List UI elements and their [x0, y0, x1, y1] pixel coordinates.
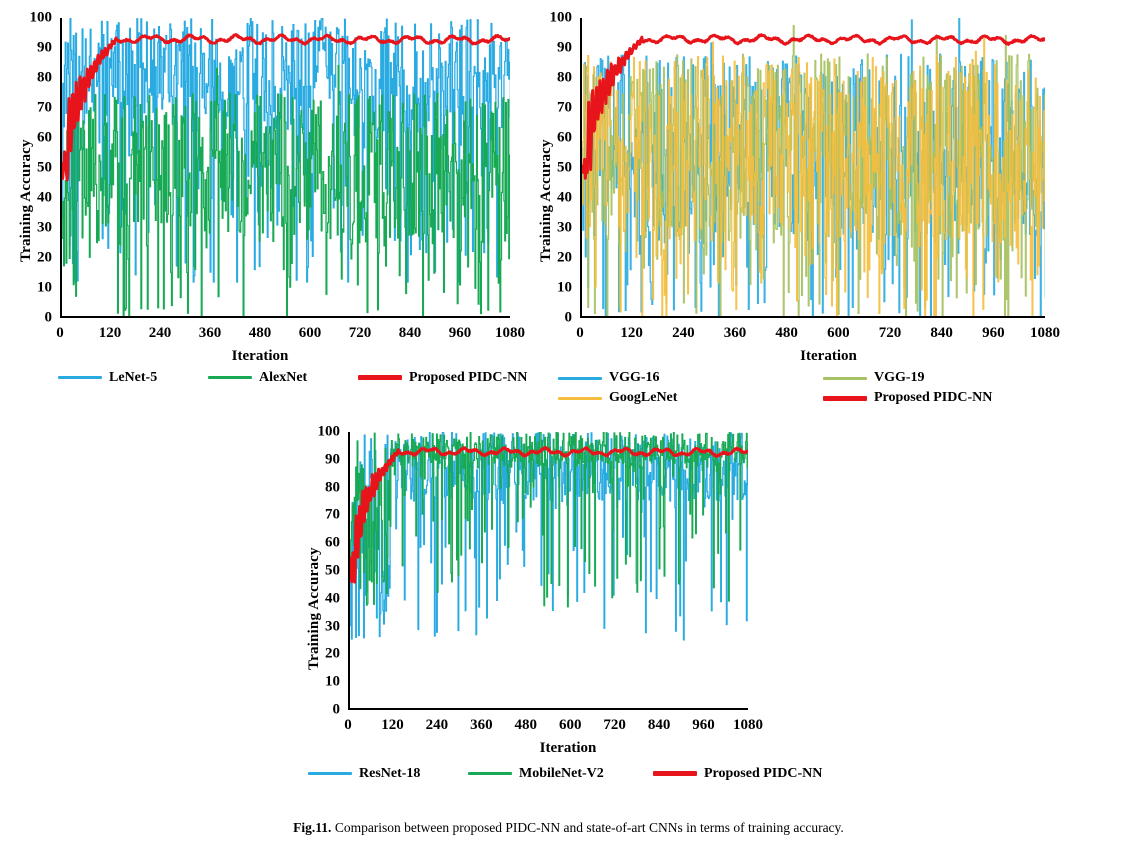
legend-item-lenet-5[interactable]: LeNet-5: [58, 370, 208, 386]
legend-label: Proposed PIDC-NN: [704, 766, 822, 782]
x-tick-label: 960: [449, 326, 472, 341]
x-tick-label: 960: [692, 718, 715, 733]
legend-item-googlenet[interactable]: GoogLeNet: [558, 390, 823, 406]
x-tick-label: 480: [249, 326, 272, 341]
legend-item-vgg-16[interactable]: VGG-16: [558, 370, 823, 386]
legend-item-proposed-pidc-nn[interactable]: Proposed PIDC-NN: [358, 370, 527, 386]
y-tick-label: 70: [288, 508, 340, 523]
plot-wrapper-2: Training Accuracy 0102030405060708090100…: [520, 0, 1137, 410]
legend-swatch-icon: [208, 376, 252, 379]
legend-swatch-icon: [58, 376, 102, 379]
legend-swatch-icon: [308, 772, 352, 775]
x-tick-label: 0: [576, 326, 584, 341]
legend-label: GoogLeNet: [609, 390, 677, 406]
x-tick-label: 720: [349, 326, 372, 341]
y-tick-label: 60: [0, 131, 52, 146]
x-tick-label: 480: [515, 718, 538, 733]
x-tick-label: 240: [426, 718, 449, 733]
x-tick-label: 960: [982, 326, 1005, 341]
legend-item-alexnet[interactable]: AlexNet: [208, 370, 358, 386]
legend-item-mobilenet-v2[interactable]: MobileNet-V2: [468, 766, 653, 782]
y-tick-label: 30: [520, 221, 572, 236]
plot-area-2: [580, 18, 1045, 318]
x-tick-label: 1080: [1030, 326, 1060, 341]
legend-label: VGG-16: [609, 370, 660, 386]
y-tick-label: 50: [520, 161, 572, 176]
y-tick-label: 20: [520, 251, 572, 266]
x-tick-label: 0: [344, 718, 352, 733]
legend-item-proposed-pidc-nn[interactable]: Proposed PIDC-NN: [823, 390, 992, 406]
y-tick-label: 80: [520, 71, 572, 86]
y-tick-label: 90: [0, 41, 52, 56]
y-tick-label: 30: [288, 619, 340, 634]
plot-area-3: [348, 432, 748, 710]
x-axis-label-1: Iteration: [0, 348, 520, 365]
legend-item-resnet-18[interactable]: ResNet-18: [308, 766, 468, 782]
figure-caption-text: Comparison between proposed PIDC-NN and …: [331, 820, 843, 835]
y-tick-label: 20: [288, 647, 340, 662]
y-tick-label: 40: [0, 191, 52, 206]
y-tick-label: 0: [0, 311, 52, 326]
legend-label: AlexNet: [259, 370, 307, 386]
y-tick-label: 50: [0, 161, 52, 176]
legend-swatch-icon: [558, 377, 602, 380]
y-tick-label: 90: [520, 41, 572, 56]
y-tick-label: 10: [520, 281, 572, 296]
x-tick-label: 840: [399, 326, 422, 341]
legend-label: VGG-19: [874, 370, 925, 386]
series-line: [350, 432, 748, 640]
y-tick-label: 100: [0, 11, 52, 26]
legend-item-proposed-pidc-nn[interactable]: Proposed PIDC-NN: [653, 766, 822, 782]
series-resnet-18: [350, 432, 748, 640]
legend-row: VGG-16VGG-19: [558, 368, 1098, 388]
x-axis-label-2: Iteration: [520, 348, 1137, 365]
figure-root: Training Accuracy 0102030405060708090100…: [0, 0, 1137, 855]
y-tick-label: 90: [288, 452, 340, 467]
legend-2: VGG-16VGG-19GoogLeNetProposed PIDC-NN: [558, 368, 1098, 408]
legend-swatch-icon: [823, 377, 867, 380]
chart-panel-2: Training Accuracy 0102030405060708090100…: [520, 0, 1137, 410]
y-tick-label: 30: [0, 221, 52, 236]
y-tick-label: 100: [520, 11, 572, 26]
x-tick-label: 360: [724, 326, 747, 341]
series-canvas: [62, 18, 510, 318]
legend-swatch-icon: [468, 772, 512, 775]
x-tick-label: 360: [470, 718, 493, 733]
legend-label: Proposed PIDC-NN: [874, 390, 992, 406]
legend-swatch-icon: [653, 771, 697, 776]
x-tick-label: 600: [559, 718, 582, 733]
y-tick-label: 40: [520, 191, 572, 206]
legend-swatch-icon: [823, 396, 867, 401]
y-tick-label: 20: [0, 251, 52, 266]
x-tick-label: 840: [648, 718, 671, 733]
legend-item-vgg-19[interactable]: VGG-19: [823, 370, 925, 386]
x-tick-label: 1080: [733, 718, 763, 733]
series-canvas: [582, 18, 1045, 318]
x-tick-label: 480: [775, 326, 798, 341]
y-tick-label: 80: [0, 71, 52, 86]
x-tick-label: 0: [56, 326, 64, 341]
series-canvas: [350, 432, 748, 710]
plot-area-1: [60, 18, 510, 318]
x-tick-label: 120: [99, 326, 122, 341]
legend-label: LeNet-5: [109, 370, 157, 386]
legend-swatch-icon: [358, 375, 402, 380]
y-tick-label: 70: [520, 101, 572, 116]
x-tick-label: 720: [879, 326, 902, 341]
y-tick-label: 10: [288, 675, 340, 690]
x-tick-label: 600: [299, 326, 322, 341]
y-tick-label: 40: [288, 591, 340, 606]
legend-row: ResNet-18MobileNet-V2Proposed PIDC-NN: [308, 764, 828, 783]
figure-caption-number: Fig.11.: [293, 820, 331, 835]
plot-wrapper-1: Training Accuracy 0102030405060708090100…: [0, 0, 520, 410]
x-tick-label: 120: [381, 718, 404, 733]
y-tick-label: 0: [520, 311, 572, 326]
chart-panel-3: Training Accuracy 0102030405060708090100…: [288, 420, 848, 810]
x-axis-label-3: Iteration: [288, 740, 848, 757]
y-tick-label: 50: [288, 564, 340, 579]
legend-1: LeNet-5AlexNetProposed PIDC-NN: [58, 368, 508, 387]
x-tick-label: 600: [827, 326, 850, 341]
legend-3: ResNet-18MobileNet-V2Proposed PIDC-NN: [308, 764, 828, 783]
x-tick-label: 240: [149, 326, 172, 341]
y-tick-label: 60: [288, 536, 340, 551]
figure-caption: Fig.11. Comparison between proposed PIDC…: [0, 820, 1137, 836]
y-tick-label: 60: [520, 131, 572, 146]
chart-panel-1: Training Accuracy 0102030405060708090100…: [0, 0, 520, 410]
y-tick-label: 100: [288, 425, 340, 440]
legend-label: MobileNet-V2: [519, 766, 604, 782]
x-tick-label: 240: [672, 326, 695, 341]
x-tick-label: 120: [620, 326, 643, 341]
y-tick-label: 10: [0, 281, 52, 296]
legend-label: Proposed PIDC-NN: [409, 370, 527, 386]
x-tick-label: 360: [199, 326, 222, 341]
legend-row: GoogLeNetProposed PIDC-NN: [558, 388, 1098, 408]
y-tick-label: 80: [288, 480, 340, 495]
y-tick-label: 0: [288, 703, 340, 718]
y-tick-label: 70: [0, 101, 52, 116]
x-tick-label: 840: [930, 326, 953, 341]
plot-wrapper-3: Training Accuracy 0102030405060708090100…: [288, 420, 848, 810]
legend-row: LeNet-5AlexNetProposed PIDC-NN: [58, 368, 527, 387]
legend-label: ResNet-18: [359, 766, 420, 782]
x-tick-label: 720: [603, 718, 626, 733]
legend-swatch-icon: [558, 397, 602, 400]
